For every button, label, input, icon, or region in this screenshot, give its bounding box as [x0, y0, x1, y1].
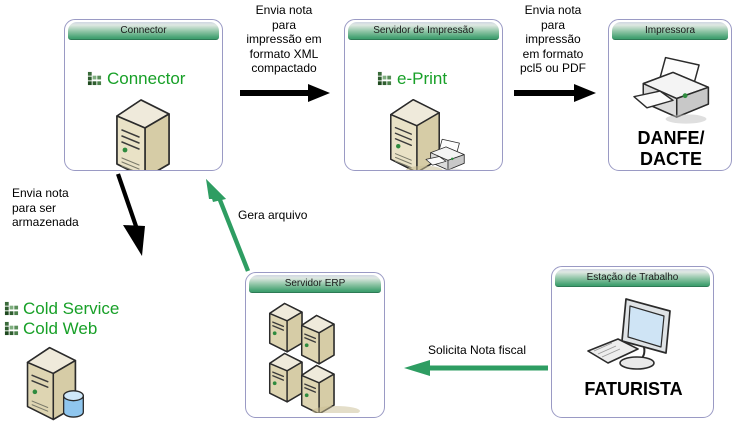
node-erp-server[interactable]: Servidor ERP [245, 272, 385, 418]
printer-icon [625, 52, 721, 132]
blocks-icon [4, 301, 19, 316]
node-print-server-header-label: Servidor de Impressão [373, 26, 474, 36]
server-cluster-icon [264, 295, 374, 413]
node-workstation-header: Estação de Trabalho [555, 269, 710, 287]
cold-service-label: Cold Service [23, 300, 119, 317]
node-connector-header: Connector [68, 22, 219, 40]
flow-label-workstation-to-erp: Solicita Nota fiscal [407, 343, 547, 358]
blocks-icon [4, 321, 19, 336]
node-workstation-header-label: Estação de Trabalho [587, 273, 679, 283]
node-printer[interactable]: Impressora DANFE/ DACTE [608, 19, 732, 171]
workstation-caption: FATURISTA [552, 379, 714, 400]
desktop-computer-icon [582, 295, 686, 381]
arrow-workstation-to-erp [400, 358, 550, 378]
node-connector[interactable]: Connector Connector [64, 19, 223, 171]
node-printer-header: Impressora [612, 22, 728, 40]
printer-icon [423, 136, 469, 171]
product-label-eprint: e-Print [377, 70, 447, 87]
arrow-connector-to-cold [98, 172, 152, 262]
arrow-connector-to-print-server [238, 82, 332, 104]
product-label-connector: Connector [87, 70, 185, 87]
node-erp-server-body [246, 293, 384, 417]
flow-label-connector-to-cold: Envia nota para ser armazenada [12, 186, 108, 230]
node-workstation-body: FATURISTA [552, 287, 713, 417]
product-label-eprint-text: e-Print [397, 70, 447, 87]
node-printer-body: DANFE/ DACTE [609, 40, 731, 170]
node-connector-header-label: Connector [120, 26, 166, 36]
node-erp-server-header: Servidor ERP [249, 275, 381, 293]
node-printer-header-label: Impressora [645, 26, 695, 36]
node-connector-body: Connector [65, 40, 222, 170]
diagram-canvas: Connector Connector Servidor de Impressã… [0, 0, 739, 425]
arrow-print-server-to-printer [512, 82, 598, 104]
blocks-icon [87, 71, 102, 86]
printer-caption: DANFE/ DACTE [609, 128, 732, 170]
cold-web-label: Cold Web [23, 320, 97, 337]
node-print-server[interactable]: Servidor de Impressão e-Print [344, 19, 503, 171]
product-label-connector-text: Connector [107, 70, 185, 87]
server-tower-icon [111, 96, 175, 171]
arrow-erp-to-connector [196, 175, 266, 275]
cold-web-item[interactable]: Cold Web [4, 320, 97, 337]
blocks-icon [377, 71, 392, 86]
node-workstation[interactable]: Estação de Trabalho FATURISTA [551, 266, 714, 418]
node-erp-server-header-label: Servidor ERP [285, 279, 346, 289]
cold-service-item[interactable]: Cold Service [4, 300, 119, 317]
flow-label-connector-to-print-server: Envia nota para impressão em formato XML… [231, 3, 337, 76]
server-database-icon [22, 344, 98, 426]
flow-label-print-server-to-printer: Envia nota para impressão em formato pcl… [503, 3, 603, 76]
node-print-server-header: Servidor de Impressão [348, 22, 499, 40]
node-print-server-body: e-Print [345, 40, 502, 170]
